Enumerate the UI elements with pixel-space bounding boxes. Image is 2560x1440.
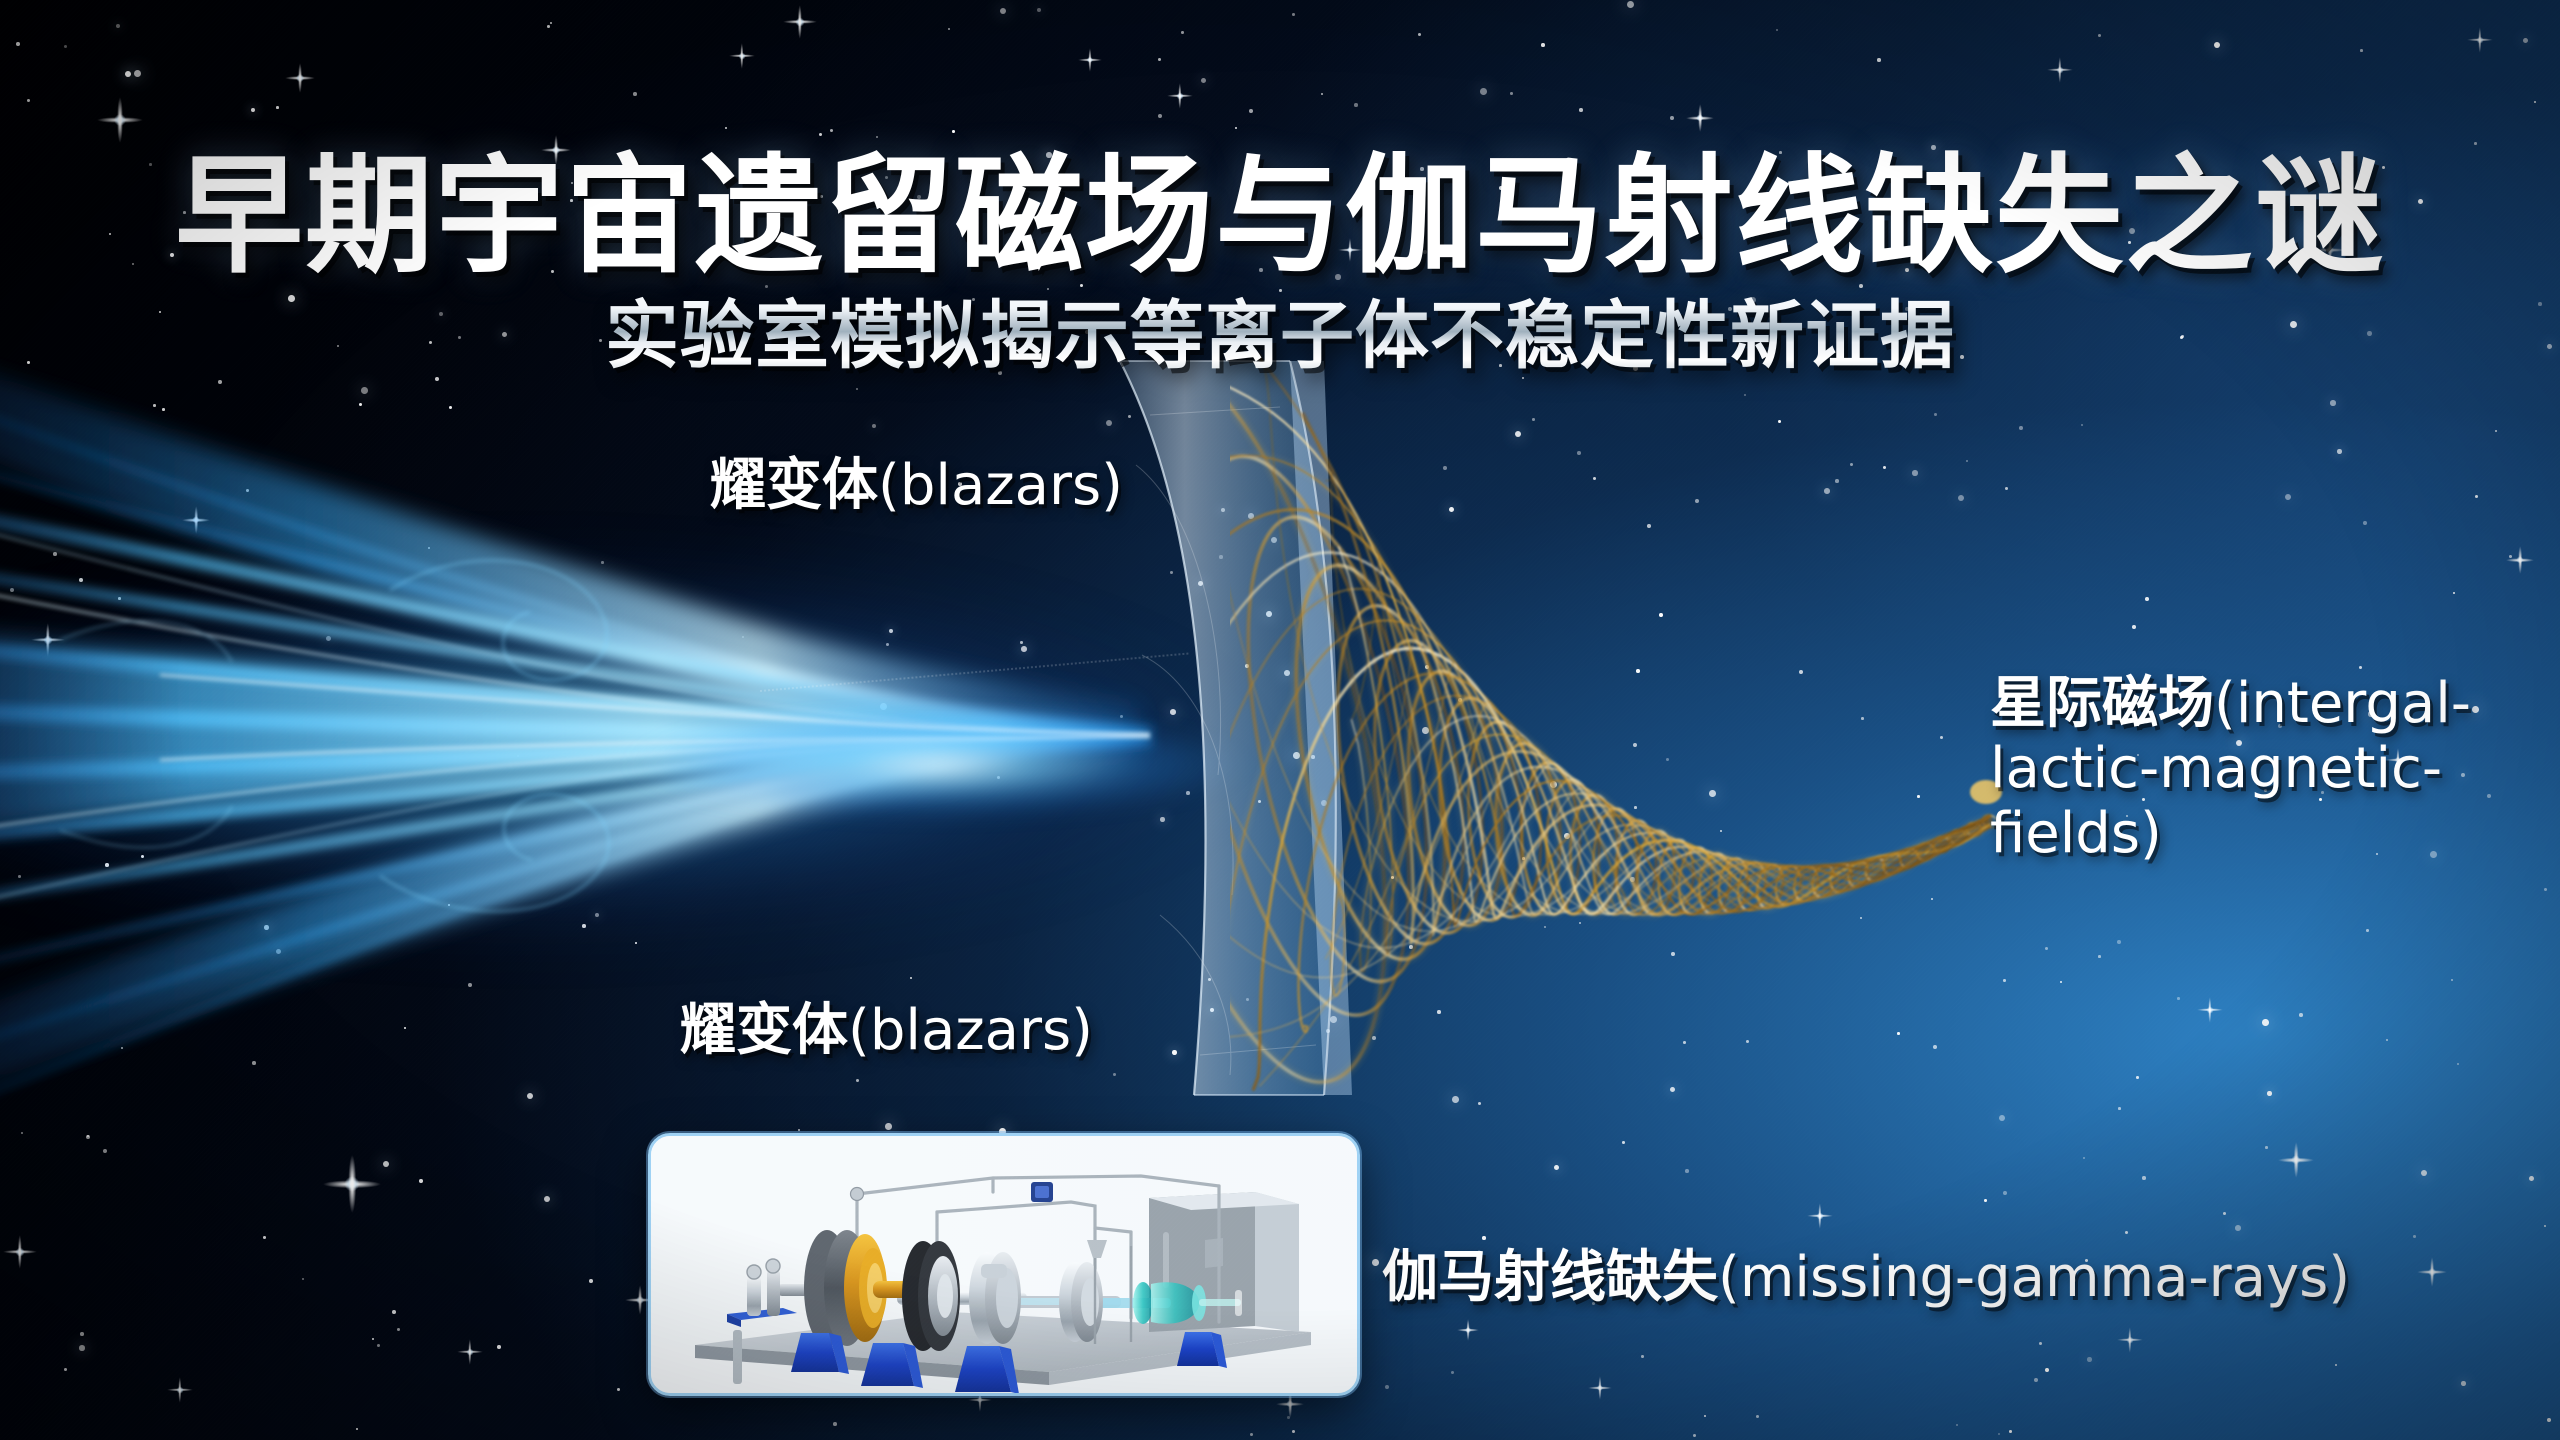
helix-ring [1897,846,1920,870]
star-dot [2223,1212,2226,1215]
star-dot [2337,449,2342,454]
label-blazars-bottom-en: (blazars) [848,998,1093,1063]
helix-spiral [1254,648,1989,1089]
star-dot [2495,430,2497,432]
star-dot [162,408,165,411]
helix-ring [1635,830,1677,916]
helix-spiral-counter [1230,736,1991,978]
plasma-jet-glow [0,430,1340,1070]
star-sparkle [2417,1257,2447,1287]
helix-spiral [1303,414,1991,943]
helix-ring [1230,437,1452,1035]
star-dot [1695,499,1699,503]
star-sparkle [2506,546,2534,574]
helix-ring [1735,860,1769,912]
helix-ring [1230,340,1444,1100]
star-dot [1522,857,1525,860]
star-dot [1883,466,1886,469]
helix-spiral [1352,716,1992,972]
star-dot [601,561,604,564]
helix-spiral [1299,673,1990,1032]
star-dot [1778,420,1781,423]
star-dot [2019,426,2023,430]
helix-spiral [1230,456,1990,922]
star-dot [246,489,249,492]
star-dot [544,1196,550,1202]
star-dot [2009,1430,2012,1433]
star-sparkle [1457,1319,1479,1341]
star-dot [2081,424,2083,426]
star-sparkle [285,63,315,93]
helix-ring [1809,863,1838,899]
label-blazars-bottom: 耀变体(blazars) [680,985,1093,1066]
star-dot [1912,470,1918,476]
label-gamma-cn: 伽马射线缺失 [1382,1245,1718,1310]
star-dot [2214,42,2220,48]
label-blazars-top-en: (blazars) [878,453,1123,518]
star-dot [1158,58,1161,61]
star-dot [1746,1040,1749,1043]
star-dot [2457,1063,2459,1065]
star-dot [2098,955,2101,958]
star-dot [2451,979,2453,981]
star-sparkle [457,1339,483,1365]
page-subtitle: 实验室模拟揭示等离子体不稳定性新证据 [0,276,2560,383]
star-dot [1418,33,1421,36]
helix-ring [1754,862,1787,910]
star-dot [1647,524,1651,528]
star-dot [21,1132,23,1134]
lens-disk [1090,355,1420,1100]
star-dot [2461,1381,2466,1386]
star-dot [1170,709,1176,715]
star-dot [1593,477,1596,480]
star-dot [419,1179,423,1183]
star-dot [1999,1115,2005,1121]
star-dot [1897,1032,1900,1035]
helix-ring [1948,827,1969,847]
star-dot [449,406,452,409]
helix-ring [1863,855,1888,883]
star-dot [1958,495,1964,501]
helix-ring [1676,846,1715,916]
star-dot [1458,698,1462,702]
star-dot [872,424,876,428]
star-dot [550,22,552,24]
page-title: 早期宇宙遗留磁场与伽马射线缺失之谜 [0,112,2560,297]
star-dot [2359,666,2362,669]
star-dot [2145,597,2149,601]
star-dot [1437,1010,1441,1014]
star-sparkle [729,43,755,69]
helix-ring [1772,864,1803,907]
star-dot [1671,952,1675,956]
star-dot [103,1149,107,1153]
star-dot [1311,755,1315,759]
star-dot [886,643,889,646]
star-dot [1452,1096,1459,1103]
helix-ring [1715,856,1751,914]
star-dot [856,388,858,390]
star-dot [1219,555,1223,559]
star-dot [1532,418,1535,421]
star-dot [2003,1191,2007,1195]
star-dot [2544,888,2547,891]
star-dot [2262,1019,2269,1026]
helix-spiral [1230,372,1991,926]
star-dot [1776,29,1778,31]
star-dot [1293,752,1300,759]
star-dot [1577,451,1581,455]
star-dot [356,1428,358,1430]
star-dot [1170,571,1173,574]
helix-ring [1880,851,1904,877]
star-dot [856,1079,859,1082]
helix-spiral-counter [1259,354,1990,922]
star-dot [2235,1225,2241,1231]
star-dot [1544,926,1546,928]
star-dot [1181,31,1184,34]
star-dot [1385,1385,1389,1389]
star-dot [2034,1378,2038,1382]
star-dot [428,547,430,549]
helix-spiral-counter [1352,553,1989,914]
star-dot [252,1061,256,1065]
star-dot [1321,800,1327,806]
star-dot [633,92,637,96]
star-dot [1636,669,1640,673]
star-dot [1998,1433,2000,1435]
helix-ring [1230,340,1444,1100]
star-dot [16,42,20,46]
helix-ring [1827,861,1855,894]
star-dot [1630,877,1635,882]
star-dot [2475,495,2478,498]
star-dot [2529,1176,2534,1181]
star-dot [1287,1416,1290,1419]
helix-spiral [1339,547,1992,955]
star-dot [302,1278,304,1280]
star-dot [372,1338,374,1340]
star-dot [527,1093,533,1099]
star-dot [1330,1016,1337,1023]
star-dot [2285,494,2291,500]
star-dot [589,1279,593,1283]
star-dot [326,636,331,641]
helix-spiral [1254,351,1992,934]
helix-spiral-counter [1230,398,1992,931]
star-dot [1515,431,1521,437]
star-dot [2142,1176,2146,1180]
star-dot [2045,1368,2049,1372]
star-dot [1683,1041,1686,1044]
star-dot [1248,513,1254,519]
star-dot [1198,581,1203,586]
helix-ring [1863,855,1888,883]
golden-helix-shell [1230,340,2030,1100]
star-dot [2087,1357,2092,1362]
helix-ring [1316,597,1484,953]
helix-spiral-counter [1326,614,1989,959]
helix-ring [1696,852,1733,915]
helix-ring [1519,762,1582,916]
poster-canvas: 早期宇宙遗留磁场与伽马射线缺失之谜 实验室模拟揭示等离子体不稳定性新证据 耀变体… [0,0,2560,1440]
star-dot [2523,38,2528,43]
star-dot [547,25,550,28]
star-dot [1564,833,1570,839]
star-dot [1480,88,1487,95]
helix-spiral [1230,589,1988,967]
star-dot [1931,898,1933,900]
star-dot [1250,1433,1253,1436]
star-dot [1709,790,1716,797]
star-dot [1956,1424,1958,1426]
star-sparkle [2197,997,2223,1023]
helix-spiral [1230,620,1988,1067]
helix-ring [1791,864,1821,904]
star-dot [2335,1364,2337,1366]
helix-ring [1656,838,1697,916]
label-imf-cn: 星际磁场 [1990,671,2214,736]
star-dot [1861,717,1864,720]
star-dot [1208,978,1211,981]
star-dot [1128,415,1131,418]
star-dot [1933,1045,1937,1049]
star-sparkle [167,1377,193,1403]
star-dot [1210,1008,1214,1012]
star-sparkle [323,1155,381,1213]
star-dot [53,552,57,556]
star-dot [2544,1225,2546,1227]
star-dot [595,913,599,917]
star-dot [1835,479,1839,483]
star-dot [1106,420,1112,426]
star-dot [2132,625,2136,629]
star-dot [134,70,141,77]
label-intergalactic-magnetic-fields: 星际磁场(intergal- lactic-magnetic-fields) [1990,672,2560,867]
star-dot [1391,876,1394,879]
helix-spiral [1331,696,1990,996]
star-dot [1627,1,1634,8]
star-dot [2534,101,2536,103]
label-blazars-top-cn: 耀变体 [710,453,878,518]
star-dot [361,387,368,394]
star-dot [2267,1091,2272,1096]
star-dot [1799,670,1803,674]
star-dot [1756,1415,1759,1418]
helix-ring [1809,863,1838,899]
star-dot [948,28,950,30]
star-dot [264,925,269,930]
star-dot [2060,981,2062,983]
star-dot [1284,670,1290,676]
star-dot [1641,1355,1644,1358]
star-dot [1693,1434,1696,1437]
star-dot [1258,800,1261,803]
star-dot [1860,917,1862,919]
helix-ring [1570,795,1618,914]
star-dot [1550,781,1557,788]
star-dot [885,1123,892,1130]
star-dot [79,578,83,582]
star-dot [1113,1073,1116,1076]
star-dot [742,636,744,638]
star-dot [80,1332,84,1336]
star-sparkle [3,1235,37,1269]
star-dot [2177,997,2180,1000]
star-dot [497,1345,501,1349]
star-dot [880,703,887,710]
helix-ring [1430,694,1531,924]
star-dot [1917,795,1920,798]
helix-spiral-counter [1259,662,1988,1086]
star-dot [86,1135,90,1139]
star-dot [1666,758,1669,761]
star-dot [2045,947,2048,950]
helix-spiral-counter [1230,593,1992,948]
star-dot [1824,488,1830,494]
star-dot [2003,979,2006,982]
star-dot [1579,922,1581,924]
star-dot [377,1344,380,1347]
star-dot [1354,103,1358,107]
helix-ring [1754,862,1787,910]
helix-ring [1964,820,1984,839]
star-dot [1720,830,1722,832]
star-dot [2265,1146,2268,1149]
star-dot [1271,537,1277,543]
star-dot [833,1422,837,1426]
star-dot [2363,521,2367,525]
star-dot [1704,1415,1706,1417]
star-dot [1510,92,1513,95]
star-sparkle [2047,57,2073,83]
star-dot [2039,1342,2042,1345]
star-dot [1160,817,1165,822]
star-dot [125,71,131,77]
star-dot [10,588,14,592]
star-dot [1984,1199,1987,1202]
star-dot [2005,487,2008,490]
helix-ring [1358,634,1499,940]
helix-ring [1614,820,1658,916]
star-dot [1622,1141,1625,1144]
star-dot [1940,736,1943,739]
star-dot [2413,1235,2416,1238]
star-dot [404,1027,406,1029]
label-imf-en-line2: lactic-magnetic-fields) [1990,736,2442,866]
star-dot [276,949,281,954]
callout-leader-line [760,653,1189,692]
star-dot [2299,1013,2303,1017]
star-dot [1449,507,1454,512]
star-dot [2117,940,2121,944]
star-dot [64,1368,67,1371]
helix-ring [1396,666,1515,931]
lab-apparatus-illustration [651,1136,1357,1393]
star-sparkle [182,506,210,534]
star-dot [79,1345,85,1351]
helix-spiral [1230,510,1989,919]
helix-spiral-counter [1326,470,1990,917]
helix-ring [1964,820,1984,839]
helix-spiral-counter [1230,702,1990,1042]
star-dot [1850,463,1853,466]
star-dot [1541,43,1545,47]
star-dot [2547,1418,2551,1422]
star-dot [263,1236,266,1239]
star-dot [2098,34,2101,37]
plasma-core-glow [520,700,1280,830]
helix-ring [1592,808,1638,915]
star-dot [392,1310,396,1314]
star-dot [1172,1050,1177,1055]
star-dot [1221,508,1225,512]
star-dot [635,942,637,944]
helix-ring [1461,719,1547,920]
star-dot [2509,555,2512,558]
star-dot [448,904,450,906]
star-dot [141,855,144,858]
star-dot [1659,613,1663,617]
star-dot [64,45,67,48]
star-dot [87,1135,89,1137]
star-dot [889,629,893,633]
star-dot [582,924,586,928]
star-dot [1326,1029,1330,1033]
star-dot [1372,1036,1376,1040]
star-dot [2083,1157,2085,1159]
star-dot [1186,791,1190,795]
star-dot [1744,394,1746,396]
label-imf-en-line1: (intergal- [2214,671,2471,736]
star-dot [1120,715,1123,718]
helix-spiral [1352,716,1992,972]
star-dot [1020,641,1023,644]
star-dot [468,983,472,987]
helix-ring [1635,830,1677,916]
star-dot [1037,8,1041,12]
star-sparkle [783,5,817,39]
star-dot [2421,1170,2427,1176]
star-sparkle [2278,1142,2314,1178]
helix-ring [1845,859,1871,890]
star-dot [118,597,121,600]
star-dot [1000,8,1006,14]
star-dot [2118,1107,2121,1110]
star-dot [1670,1087,1675,1092]
star-dot [1266,611,1272,617]
star-dot [1422,727,1429,734]
helix-ring [1545,779,1600,914]
label-missing-gamma-rays: 伽马射线缺失(missing-gamma-rays) [1382,1232,2350,1313]
star-dot [617,1388,620,1391]
label-blazars-top: 耀变体(blazars) [710,440,1123,521]
star-sparkle [1807,1203,1833,1229]
label-gamma-en: (missing-gamma-rays) [1718,1245,2350,1310]
star-dot [116,24,120,28]
helix-ring [1696,852,1733,915]
helix-ring [1269,554,1472,971]
star-sparkle [2467,27,2493,53]
star-dot [1201,78,1206,83]
helix-ring [1914,840,1936,863]
star-dot [1478,1102,1481,1105]
star-dot [1425,665,1429,669]
star-dot [1372,1259,1379,1266]
star-dot [1633,743,1637,747]
lab-apparatus-inset [648,1133,1360,1396]
